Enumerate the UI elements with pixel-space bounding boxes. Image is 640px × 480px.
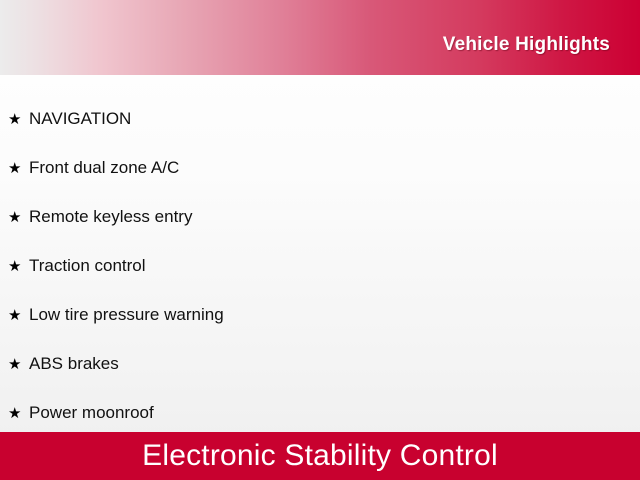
star-icon: ★	[8, 259, 29, 274]
list-item: ★ ABS brakes	[0, 340, 640, 389]
list-item-label: NAVIGATION	[29, 110, 131, 129]
list-item: ★ Low tire pressure warning	[0, 291, 640, 340]
star-icon: ★	[8, 161, 29, 176]
header-banner: Vehicle Highlights	[0, 0, 640, 75]
list-item: ★ Front dual zone A/C	[0, 144, 640, 193]
star-icon: ★	[8, 210, 29, 225]
star-icon: ★	[8, 308, 29, 323]
list-item-label: Front dual zone A/C	[29, 159, 179, 178]
list-item: ★ Remote keyless entry	[0, 193, 640, 242]
list-item-label: Traction control	[29, 257, 146, 276]
list-item-label: ABS brakes	[29, 355, 119, 374]
footer-title: Electronic Stability Control	[142, 439, 498, 473]
vehicle-highlights-slide: Vehicle Highlights ★ NAVIGATION ★ Front …	[0, 0, 640, 480]
page-title: Vehicle Highlights	[443, 20, 640, 56]
vehicle-highlights-list: ★ NAVIGATION ★ Front dual zone A/C ★ Rem…	[0, 75, 640, 432]
list-item: ★ Power moonroof	[0, 389, 640, 438]
star-icon: ★	[8, 357, 29, 372]
star-icon: ★	[8, 406, 29, 421]
star-icon: ★	[8, 112, 29, 127]
list-item: ★ NAVIGATION	[0, 95, 640, 144]
list-item-label: Power moonroof	[29, 404, 154, 423]
footer-banner: Electronic Stability Control	[0, 432, 640, 480]
list-item: ★ Traction control	[0, 242, 640, 291]
list-item-label: Remote keyless entry	[29, 208, 192, 227]
list-item-label: Low tire pressure warning	[29, 306, 224, 325]
